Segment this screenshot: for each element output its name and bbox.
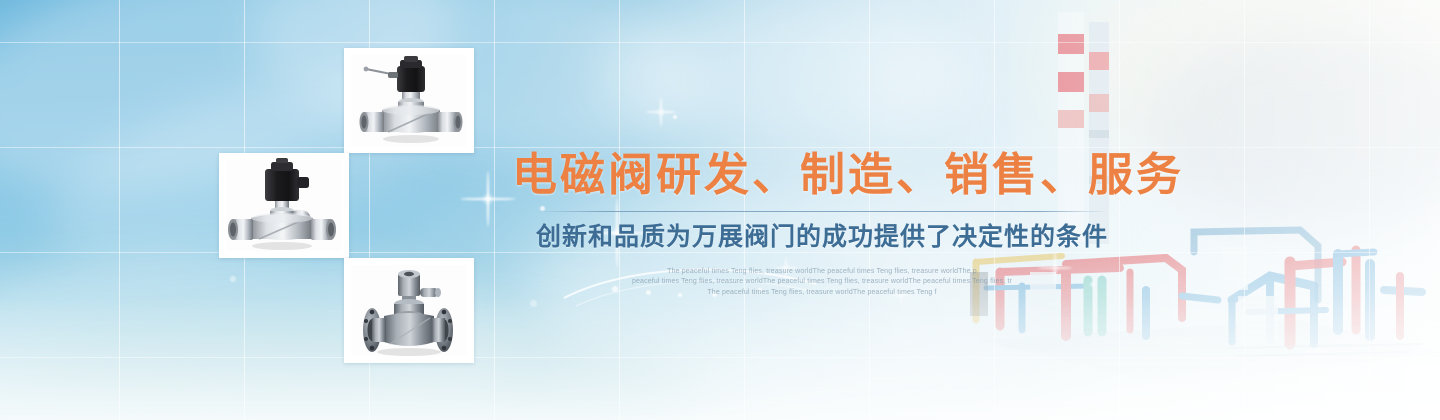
filler-line: The peaceful times Teng flies, treasure … (512, 288, 1132, 299)
product-tile-solenoid-valve-flanged[interactable] (344, 258, 474, 363)
product-tile-solenoid-valve-threaded-lever[interactable] (344, 48, 474, 153)
hero-banner: 电磁阀研发、制造、销售、服务 创新和品质为万展阀门的成功提供了决定性的条件 Th… (0, 0, 1440, 420)
filler-paragraph: The peaceful times Teng flies, treasure … (512, 267, 1132, 299)
solenoid-valve-flanged-image (344, 258, 474, 363)
filler-line: The peaceful times Teng flies, treasure … (512, 267, 1132, 278)
hero-copy: 电磁阀研发、制造、销售、服务 创新和品质为万展阀门的成功提供了决定性的条件 Th… (512, 150, 1132, 298)
page-title: 电磁阀研发、制造、销售、服务 (512, 150, 1132, 200)
filler-line: peaceful times Teng flies, treasure worl… (512, 277, 1132, 288)
title-divider (536, 211, 1108, 212)
product-tile-solenoid-valve-threaded-compact[interactable] (219, 153, 349, 258)
solenoid-valve-threaded-compact-image (219, 153, 349, 258)
solenoid-valve-threaded-lever-image (344, 48, 474, 153)
page-subtitle: 创新和品质为万展阀门的成功提供了决定性的条件 (512, 221, 1132, 252)
